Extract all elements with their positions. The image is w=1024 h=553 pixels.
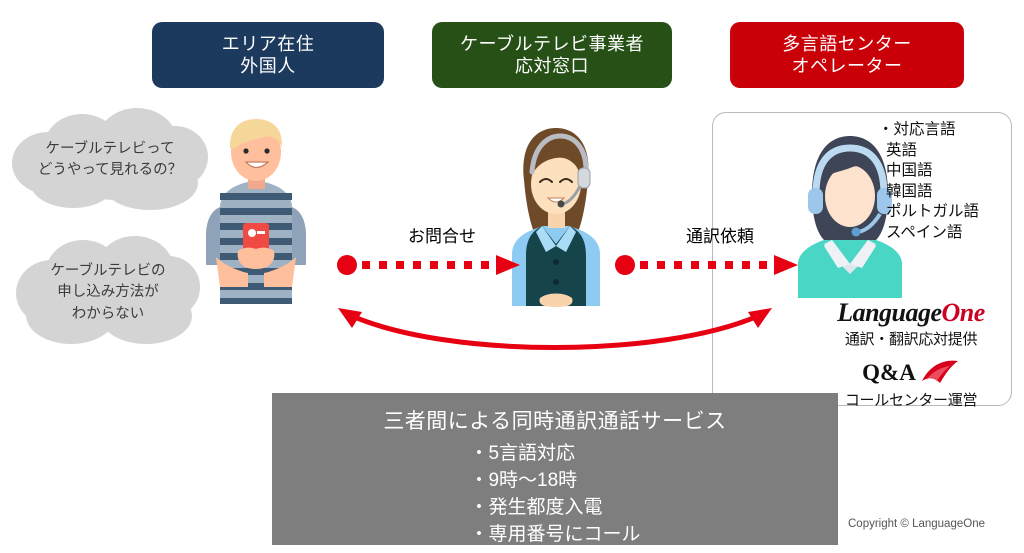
thought-bubble-2: ケーブルテレビの 申し込み方法が わからない xyxy=(20,238,196,348)
bidirectional-curved-arrow xyxy=(330,300,780,350)
red-swoosh-icon xyxy=(920,359,960,385)
inquiry-dotted-arrow xyxy=(336,250,526,280)
request-dotted-arrow xyxy=(614,250,804,280)
thought-bubble-2-text: ケーブルテレビの 申し込み方法が わからない xyxy=(50,261,165,324)
header-pill-cable-operator: ケーブルテレビ事業者 応対窓口 xyxy=(432,22,672,88)
thought-bubble-1-text: ケーブルテレビって どうやって見れるの？ xyxy=(38,139,182,181)
supported-languages-list: ・対応言語 英語 中国語 韓国語 ポルトガル語 スペイン語 xyxy=(884,120,1016,244)
service-summary-title: 三者間による同時通訳通話サービス xyxy=(383,405,726,435)
header-pill-cable-line1: ケーブルテレビ事業者 xyxy=(460,33,644,56)
brand-subtitle-interpretation: 通訳・翻訳応対提供 xyxy=(806,328,1016,349)
header-pill-center-line1: 多言語センター xyxy=(782,33,912,56)
language-item-spanish: スペイン語 xyxy=(886,223,1016,244)
summary-item-number: ・専用番号にコール xyxy=(469,522,640,549)
header-pill-resident-line1: エリア在住 xyxy=(222,33,315,56)
language-item-korean: 韓国語 xyxy=(886,182,1016,203)
qa-logo-row: Q&A xyxy=(806,359,1016,385)
request-arrow-label: 通訳依頼 xyxy=(630,222,810,247)
languageone-logo: LanguageOne xyxy=(806,300,1016,326)
language-item-portuguese: ポルトガル語 xyxy=(886,202,1016,223)
supported-languages-heading: ・対応言語 xyxy=(878,120,1016,141)
inquiry-arrow-label: お問合せ xyxy=(352,222,532,247)
service-summary-panel: 三者間による同時通訳通話サービス ・5言語対応 ・9時～18時 ・発生都度入電 … xyxy=(272,393,838,545)
diagram-canvas: エリア在住 外国人 ケーブルテレビ事業者 応対窓口 多言語センター オペレーター… xyxy=(0,0,1024,553)
summary-item-hours: ・9時～18時 xyxy=(469,468,640,495)
header-pill-resident: エリア在住 外国人 xyxy=(152,22,384,88)
summary-item-languages: ・5言語対応 xyxy=(469,441,640,468)
logo-text-language: Language xyxy=(837,298,941,327)
man-with-smartphone-icon xyxy=(186,115,326,305)
header-pill-resident-line2: 外国人 xyxy=(240,55,296,78)
copyright-text: Copyright © LanguageOne xyxy=(848,518,985,530)
header-pill-cable-line2: 応対窓口 xyxy=(515,55,589,78)
header-pill-center-line2: オペレーター xyxy=(792,55,903,78)
header-pill-multilingual-center: 多言語センター オペレーター xyxy=(730,22,964,88)
thought-bubble-1: ケーブルテレビって どうやって見れるの？ xyxy=(14,112,206,208)
language-item-english: 英語 xyxy=(886,141,1016,162)
logo-text-one: One xyxy=(942,298,985,327)
language-item-chinese: 中国語 xyxy=(886,161,1016,182)
summary-item-oncall: ・発生都度入電 xyxy=(469,495,640,522)
service-summary-list: ・5言語対応 ・9時～18時 ・発生都度入電 ・専用番号にコール xyxy=(469,441,640,549)
qa-logo-text: Q&A xyxy=(862,361,916,384)
